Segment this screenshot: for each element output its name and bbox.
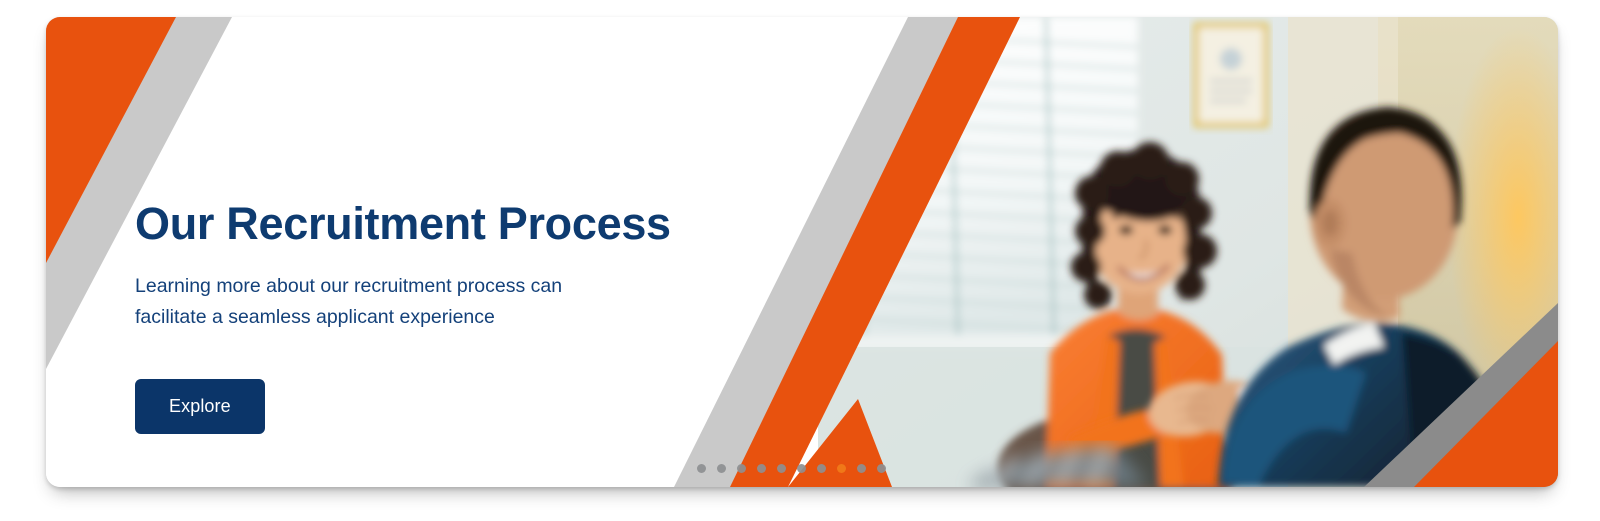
carousel-dots[interactable] — [697, 464, 886, 473]
hero-subtitle: Learning more about our recruitment proc… — [135, 271, 635, 334]
carousel-dot-10[interactable] — [877, 464, 886, 473]
hero-text-block: Our Recruitment Process Learning more ab… — [135, 200, 695, 434]
hero-banner-card: Our Recruitment Process Learning more ab… — [46, 17, 1558, 487]
carousel-dot-3[interactable] — [737, 464, 746, 473]
carousel-dot-4[interactable] — [757, 464, 766, 473]
carousel-dot-1[interactable] — [697, 464, 706, 473]
carousel-dot-7[interactable] — [817, 464, 826, 473]
hero-photo — [818, 17, 1558, 487]
carousel-dot-2[interactable] — [717, 464, 726, 473]
page-root: Our Recruitment Process Learning more ab… — [0, 0, 1600, 521]
carousel-dot-6[interactable] — [797, 464, 806, 473]
explore-button[interactable]: Explore — [135, 379, 265, 434]
carousel-dot-9[interactable] — [857, 464, 866, 473]
carousel-dot-5[interactable] — [777, 464, 786, 473]
page-title: Our Recruitment Process — [135, 200, 695, 249]
carousel-dot-8[interactable] — [837, 464, 846, 473]
